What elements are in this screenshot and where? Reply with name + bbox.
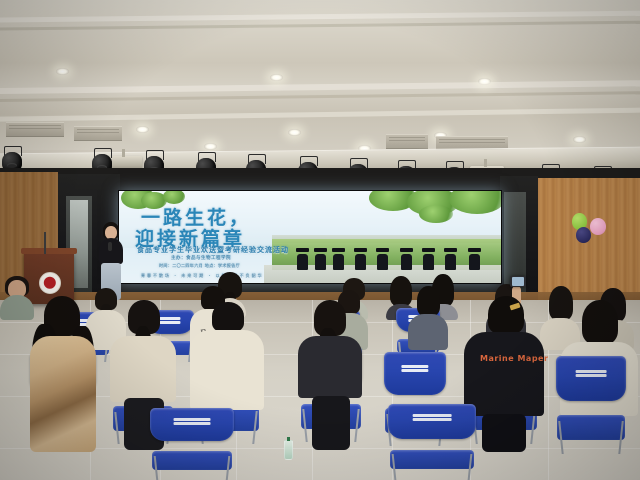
auditorium-photo: 一路生花， 迎接新篇章 食品专业学生毕业欢送暨考研经验交流活动 主办：食品与生物…	[0, 0, 640, 480]
lectern-top	[21, 248, 77, 254]
ac-vent	[6, 122, 64, 137]
downlight-icon	[204, 143, 217, 150]
microphone-icon	[108, 242, 112, 251]
screen-graduate	[401, 248, 412, 270]
ceiling	[0, 0, 640, 150]
screen-graduate	[377, 248, 388, 270]
downlight-icon	[270, 74, 283, 81]
screen-graduate	[333, 248, 344, 270]
screen-graduate	[445, 248, 456, 270]
legs	[312, 396, 350, 450]
microphone-stand-icon	[44, 232, 46, 254]
screen-graduate	[469, 248, 480, 270]
ceiling-band	[0, 20, 640, 30]
screen-detail-1: 主办：食品与生物工程学院	[171, 255, 231, 261]
screen-graduate	[423, 248, 434, 270]
downlight-icon	[288, 129, 301, 136]
screen-detail-2: 时间：二〇二四年六月 地点：学术报告厅	[159, 263, 240, 269]
empty-chair[interactable]	[388, 404, 476, 480]
balloon-pink-icon	[590, 218, 606, 235]
downlight-icon	[136, 126, 149, 133]
downlight-icon	[573, 136, 586, 143]
downlight-icon	[478, 78, 491, 85]
screen-graduate	[315, 248, 326, 270]
audience-member	[296, 300, 364, 450]
school-crest-icon	[39, 272, 61, 294]
ac-vent	[386, 134, 428, 149]
screen-subtitle: 食品专业学生毕业欢送暨考研经验交流活动	[137, 245, 289, 255]
audience-member	[26, 296, 100, 452]
balloon-navy-icon	[576, 227, 591, 243]
chair[interactable]	[556, 356, 626, 454]
downlight-icon	[56, 68, 69, 75]
stage-led-screen: 一路生花， 迎接新篇章 食品专业学生毕业欢送暨考研经验交流活动 主办：食品与生物…	[118, 190, 502, 284]
water-bottle-icon[interactable]	[284, 440, 293, 460]
audience-member	[408, 286, 448, 350]
empty-chair[interactable]	[150, 408, 234, 480]
ceiling-band	[0, 107, 640, 122]
screen-foliage-icon	[419, 205, 453, 223]
smartphone-icon[interactable]	[510, 276, 526, 287]
shirt-brand-text: Marine Maper	[480, 354, 548, 363]
legs	[482, 414, 526, 452]
screen-graduate	[355, 248, 366, 270]
ac-vent	[74, 126, 122, 141]
screen-graduate	[297, 248, 308, 270]
